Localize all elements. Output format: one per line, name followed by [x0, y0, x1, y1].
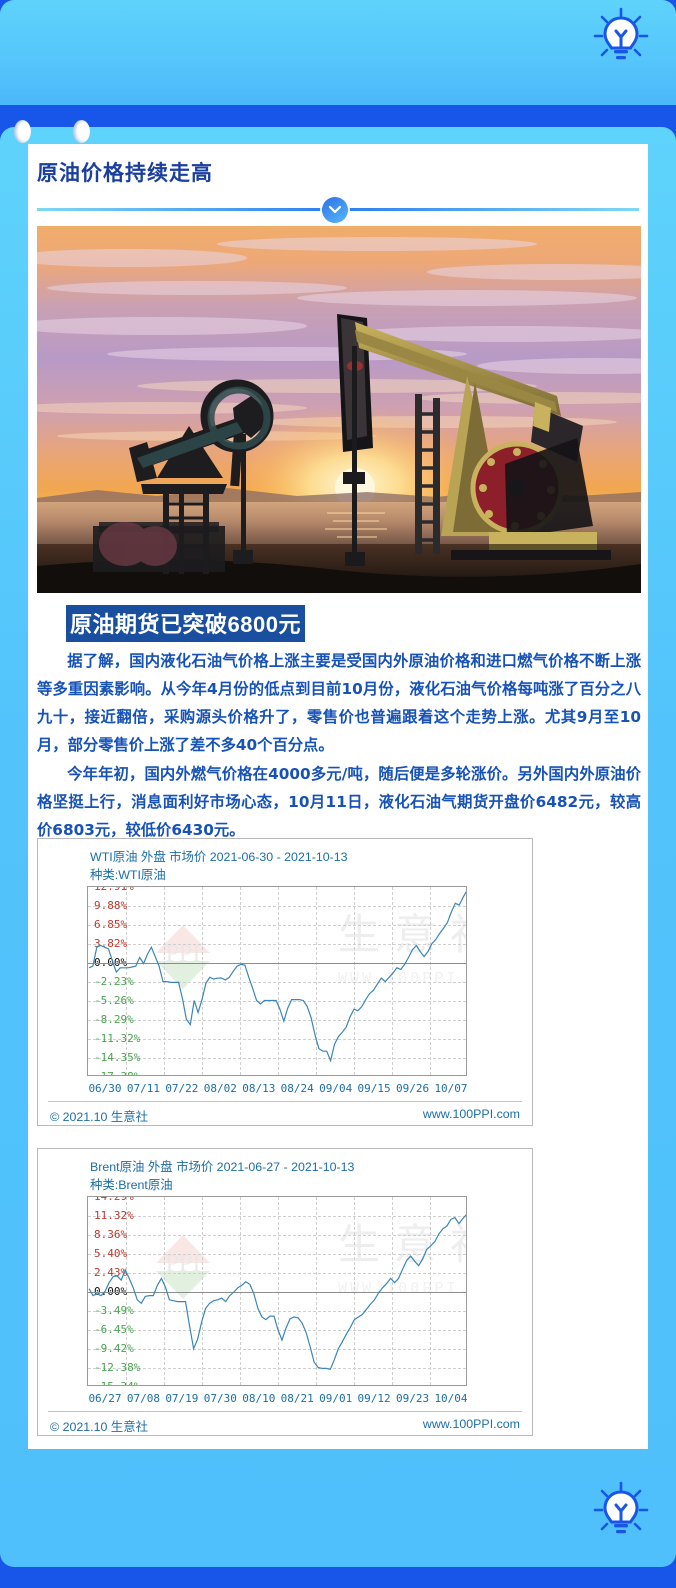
x-axis-label: 09/04: [319, 1082, 352, 1095]
x-axis-label: 08/24: [281, 1082, 314, 1095]
footer-band: [0, 1567, 676, 1588]
chart-copyright: © 2021.10 生意社: [50, 1417, 148, 1435]
x-axis-label: 08/21: [281, 1392, 314, 1405]
binder-dot: [14, 120, 31, 143]
lightbulb-icon: [590, 6, 652, 73]
chart-title: Brent原油 外盘 市场价 2021-06-27 - 2021-10-13: [90, 1157, 354, 1175]
paragraph-2-text: 今年年初，国内外燃气价格在4000多元/吨，随后便是多轮涨价。另外国内外原油价格…: [37, 765, 641, 839]
x-axis-label: 08/02: [204, 1082, 237, 1095]
chart-subtitle: 种类:Brent原油: [90, 1175, 173, 1193]
page-title: 原油价格持续走高: [37, 157, 213, 187]
x-axis-label: 09/01: [319, 1392, 352, 1405]
chart-source-url[interactable]: www.100PPI.com: [423, 1107, 520, 1121]
x-axis-label: 07/11: [127, 1082, 160, 1095]
chart-series-line: [88, 887, 467, 1076]
x-axis-label: 07/19: [165, 1392, 198, 1405]
chart-footer-rule: [48, 1411, 522, 1412]
chart-plot-area: PPI生意社WWW.100PPI.COM82.4012.91%80.199.88…: [87, 886, 467, 1076]
chart-panel-wti: WTI原油 外盘 市场价 2021-06-30 - 2021-10-13 种类:…: [37, 838, 533, 1126]
hero-photo: [37, 226, 641, 593]
lightbulb-icon-footer: [590, 1480, 652, 1547]
x-axis-label: 06/30: [88, 1082, 121, 1095]
chart-x-axis: 06/2707/0807/1907/3008/1008/2109/0109/12…: [87, 1392, 467, 1408]
section-subhead: 原油期货已突破6800元: [66, 605, 305, 642]
chart-source-url[interactable]: www.100PPI.com: [423, 1417, 520, 1431]
x-axis-label: 10/04: [434, 1392, 467, 1405]
x-axis-label: 09/12: [358, 1392, 391, 1405]
x-axis-label: 06/27: [88, 1392, 121, 1405]
x-axis-label: 09/15: [358, 1082, 391, 1095]
x-axis-label: 07/30: [204, 1392, 237, 1405]
x-axis-label: 09/23: [396, 1392, 429, 1405]
paragraph-1-text: 据了解，国内液化石油气价格上涨主要是受国内外原油价格和进口燃气价格不断上涨等多重…: [37, 652, 641, 754]
x-axis-label: 09/26: [396, 1082, 429, 1095]
section-divider: [37, 197, 639, 223]
page-root: 原油价格持续走高: [0, 0, 676, 1588]
chart-title: WTI原油 外盘 市场价 2021-06-30 - 2021-10-13: [90, 847, 348, 865]
binder-dot: [73, 120, 90, 143]
chart-subtitle: 种类:WTI原油: [90, 865, 166, 883]
paragraph-2: 今年年初，国内外燃气价格在4000多元/吨，随后便是多轮涨价。另外国内外原油价格…: [37, 760, 641, 844]
chevron-down-icon[interactable]: [322, 197, 348, 223]
chart-plot-area: PPI生意社WWW.100PPI.COM85.5014.29%83.2811.3…: [87, 1196, 467, 1386]
x-axis-label: 08/10: [242, 1392, 275, 1405]
x-axis-label: 07/22: [165, 1082, 198, 1095]
x-axis-label: 10/07: [434, 1082, 467, 1095]
x-axis-label: 07/08: [127, 1392, 160, 1405]
chart-x-axis: 06/3007/1107/2208/0208/1308/2409/0409/15…: [87, 1082, 467, 1098]
paragraph-1: 据了解，国内液化石油气价格上涨主要是受国内外原油价格和进口燃气价格不断上涨等多重…: [37, 647, 641, 759]
chart-series-line: [88, 1197, 467, 1386]
chart-footer-rule: [48, 1101, 522, 1102]
chart-copyright: © 2021.10 生意社: [50, 1107, 148, 1125]
header-band: [0, 0, 676, 105]
header-divider-band: [0, 105, 676, 127]
chart-panel-brent: Brent原油 外盘 市场价 2021-06-27 - 2021-10-13 种…: [37, 1148, 533, 1436]
x-axis-label: 08/13: [242, 1082, 275, 1095]
